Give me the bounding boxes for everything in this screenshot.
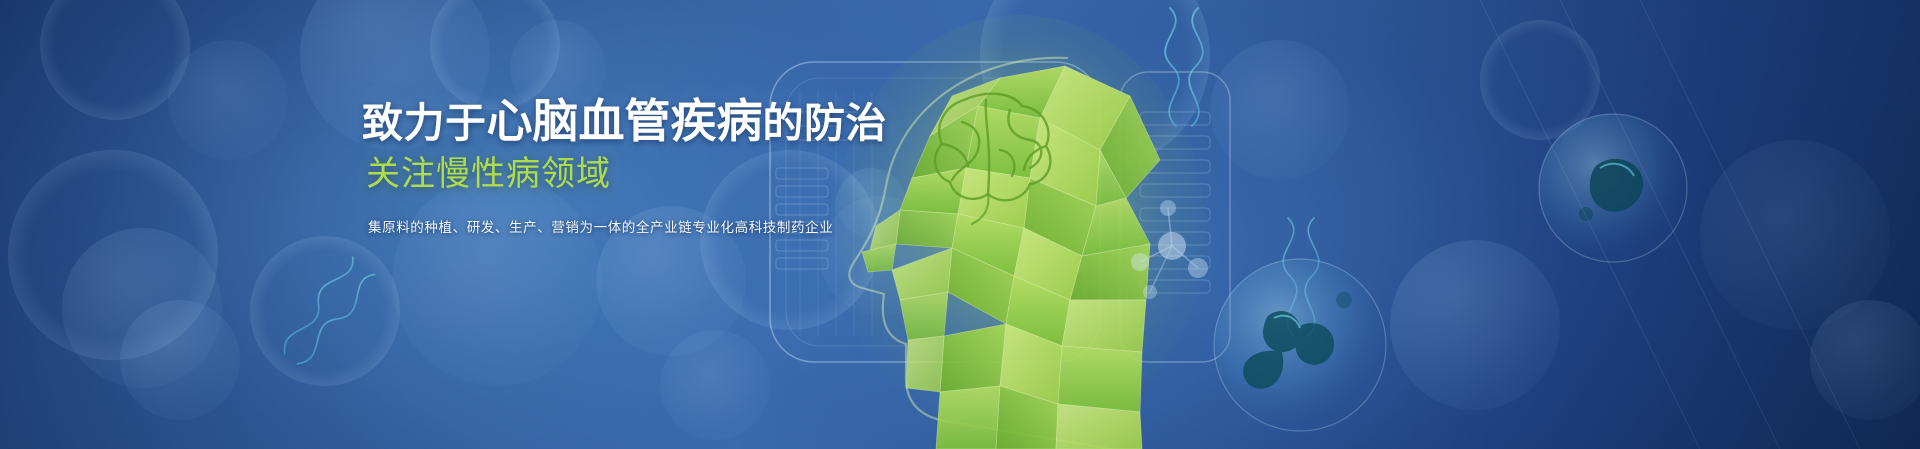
- bokeh-circle: [1700, 140, 1890, 330]
- hero-banner: 致力于心脑血管疾病的防治 关注慢性病领域 集原料的种植、研发、生产、营销为一体的…: [0, 0, 1920, 449]
- head-halo: [849, 58, 1112, 449]
- head-glow: [835, 15, 1205, 445]
- bokeh-circle: [836, 168, 906, 238]
- bokeh-circle: [8, 150, 218, 360]
- bokeh-circle: [430, 0, 560, 110]
- molecule-cluster: [1131, 200, 1208, 299]
- headline-accent: 心脑血管疾病: [487, 95, 763, 147]
- headline-tail: 的防治: [763, 100, 888, 146]
- page-subtitle: 关注慢性病领域: [366, 152, 792, 196]
- bokeh-circle: [980, 0, 1210, 170]
- bokeh-circle: [62, 228, 222, 388]
- bokeh-circle: [1390, 240, 1560, 410]
- cell-bottom-right: [1214, 259, 1386, 431]
- low-poly-head: [862, 66, 1160, 449]
- vignette-overlay: [0, 0, 1920, 449]
- headline-lead: 致力于: [362, 100, 487, 146]
- page-description: 集原料的种植、研发、生产、营销为一体的全产业链专业化高科技制药企业: [368, 218, 792, 238]
- light-rays: [1480, 0, 1860, 449]
- bokeh-circle: [250, 236, 400, 386]
- page-title: 致力于心脑血管疾病的防治: [362, 96, 792, 148]
- hud-frame-right: [1120, 72, 1230, 362]
- hero-text-block: 致力于心脑血管疾病的防治 关注慢性病领域 集原料的种植、研发、生产、营销为一体的…: [362, 96, 792, 238]
- bokeh-circle: [120, 300, 240, 420]
- brain-icon: [935, 94, 1050, 201]
- bokeh-circle: [1480, 20, 1600, 140]
- dna-helix-top-right: [1164, 8, 1204, 126]
- dna-helix-mid-right: [1282, 218, 1320, 336]
- bokeh-circle: [168, 40, 288, 160]
- bokeh-circle: [1210, 40, 1350, 180]
- bokeh-circle: [660, 330, 770, 440]
- science-graphics: [0, 0, 1920, 449]
- bokeh-circle: [1810, 300, 1920, 420]
- dna-helix-bottom-left: [275, 254, 379, 372]
- cell-top-right: [1539, 114, 1687, 262]
- brain-stem: [972, 194, 988, 224]
- bokeh-circle: [40, 0, 190, 120]
- bokeh-circle: [820, 196, 940, 316]
